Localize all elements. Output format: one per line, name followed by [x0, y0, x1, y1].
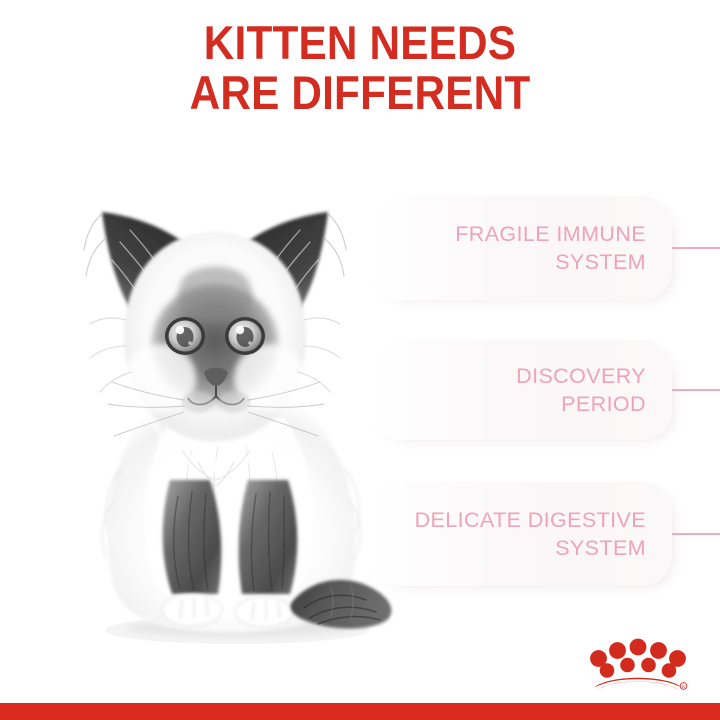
callout-delicate-digestive-system: DELICATE DIGESTIVE SYSTEM — [372, 482, 672, 586]
kitten-photo — [42, 150, 412, 660]
poster-canvas: KITTEN NEEDS ARE DIFFERENT — [0, 0, 720, 720]
page-title-line-1: KITTEN NEEDS — [36, 18, 684, 68]
connector-line-2 — [672, 389, 720, 391]
callout-3-line-1: DELICATE DIGESTIVE — [415, 506, 646, 534]
callout-1-line-2: SYSTEM — [455, 248, 646, 276]
svg-text:R: R — [682, 684, 685, 689]
callout-discovery-period: DISCOVERY PERIOD — [372, 340, 672, 440]
callout-1-text: FRAGILE IMMUNE SYSTEM — [455, 220, 646, 276]
connector-line-1 — [672, 247, 720, 249]
connector-line-3 — [672, 533, 720, 535]
page-title-line-2: ARE DIFFERENT — [36, 68, 684, 118]
callout-2-line-2: PERIOD — [516, 390, 646, 418]
callout-fragile-immune-system: FRAGILE IMMUNE SYSTEM — [372, 196, 672, 300]
callout-2-text: DISCOVERY PERIOD — [516, 362, 646, 418]
registered-trademark-icon: R — [680, 683, 687, 690]
page-title: KITTEN NEEDS ARE DIFFERENT — [36, 18, 684, 118]
callout-3-line-2: SYSTEM — [415, 534, 646, 562]
callout-1-line-1: FRAGILE IMMUNE — [455, 220, 646, 248]
callout-3-text: DELICATE DIGESTIVE SYSTEM — [415, 506, 646, 562]
callout-2-line-1: DISCOVERY — [516, 362, 646, 390]
royal-canin-crown-logo: R — [588, 634, 688, 694]
footer-red-bar — [0, 703, 720, 720]
